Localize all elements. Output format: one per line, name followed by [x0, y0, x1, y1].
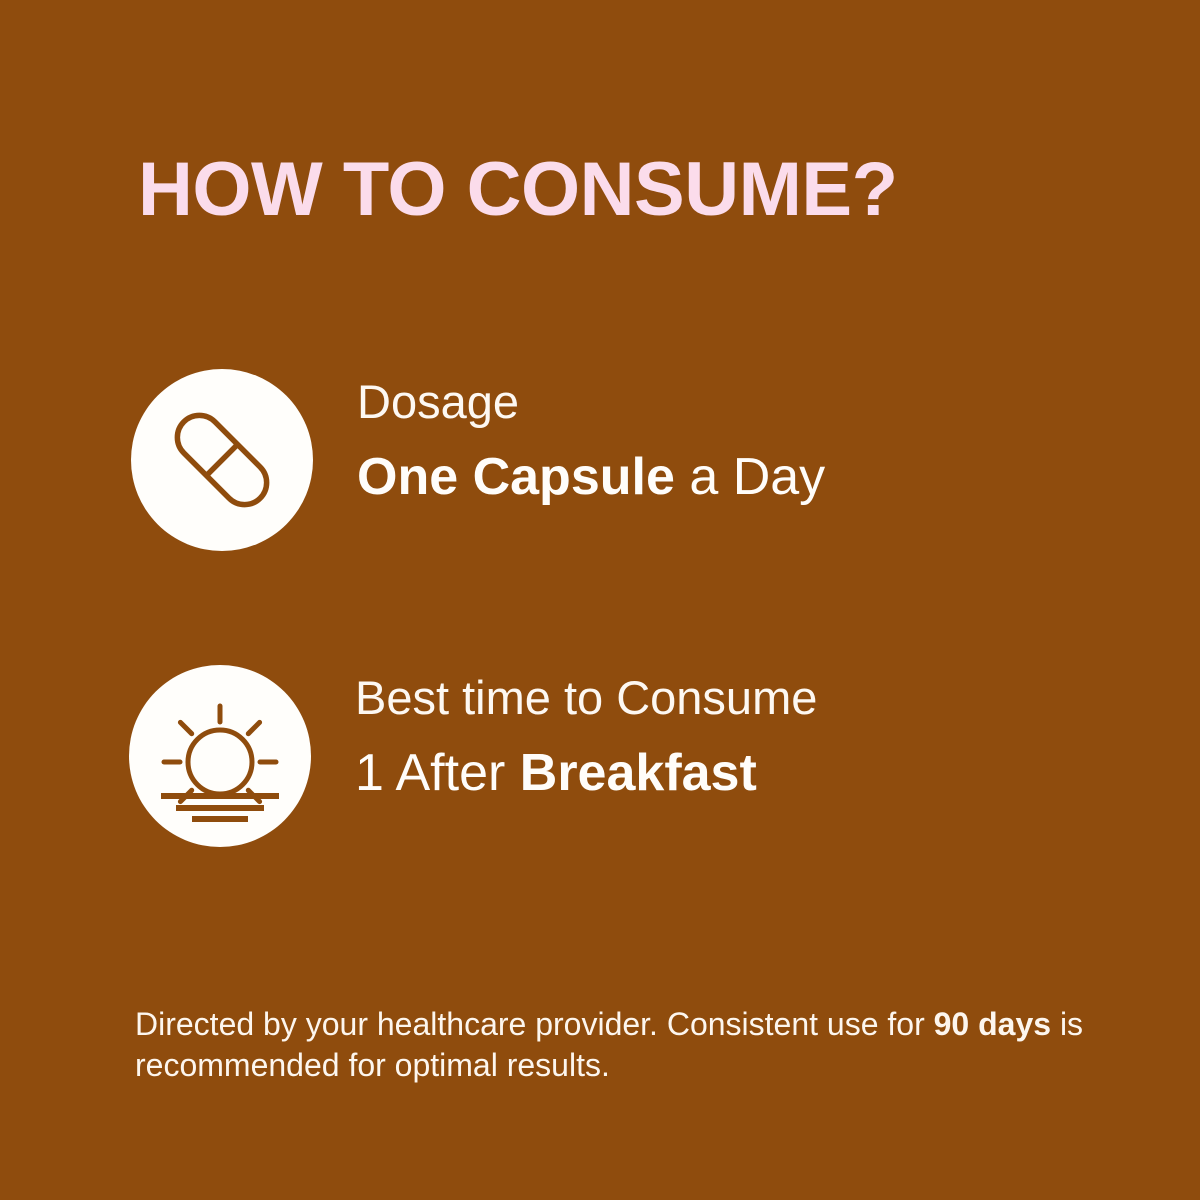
how-to-consume-poster: HOW TO CONSUME? Dosage One Capsule a Day — [0, 0, 1200, 1200]
footnote-part-1: Directed by your healthcare provider. Co… — [135, 1006, 934, 1042]
instruction-value-dosage-bold: One Capsule — [357, 448, 675, 506]
capsule-icon-badge — [131, 369, 313, 551]
instruction-value-timing: 1 After Breakfast — [355, 746, 817, 801]
capsule-icon — [158, 396, 286, 524]
instruction-row-dosage: Dosage One Capsule a Day — [131, 369, 825, 551]
footnote-highlight: 90 days — [934, 1006, 1051, 1042]
instruction-row-timing: Best time to Consume 1 After Breakfast — [129, 665, 817, 847]
instruction-label-timing: Best time to Consume — [355, 673, 817, 723]
instruction-value-dosage: One Capsule a Day — [357, 450, 825, 505]
footnote-text: Directed by your healthcare provider. Co… — [135, 1004, 1095, 1086]
instruction-value-dosage-rest: a Day — [675, 448, 825, 506]
sunrise-icon — [154, 690, 286, 822]
sunrise-icon-badge — [129, 665, 311, 847]
instruction-text-dosage: Dosage One Capsule a Day — [357, 369, 825, 505]
instruction-text-timing: Best time to Consume 1 After Breakfast — [355, 665, 817, 801]
instruction-value-timing-lead: 1 After — [355, 744, 520, 802]
instruction-label-dosage: Dosage — [357, 377, 825, 427]
instruction-value-timing-bold: Breakfast — [520, 744, 757, 802]
page-title: HOW TO CONSUME? — [138, 152, 898, 228]
